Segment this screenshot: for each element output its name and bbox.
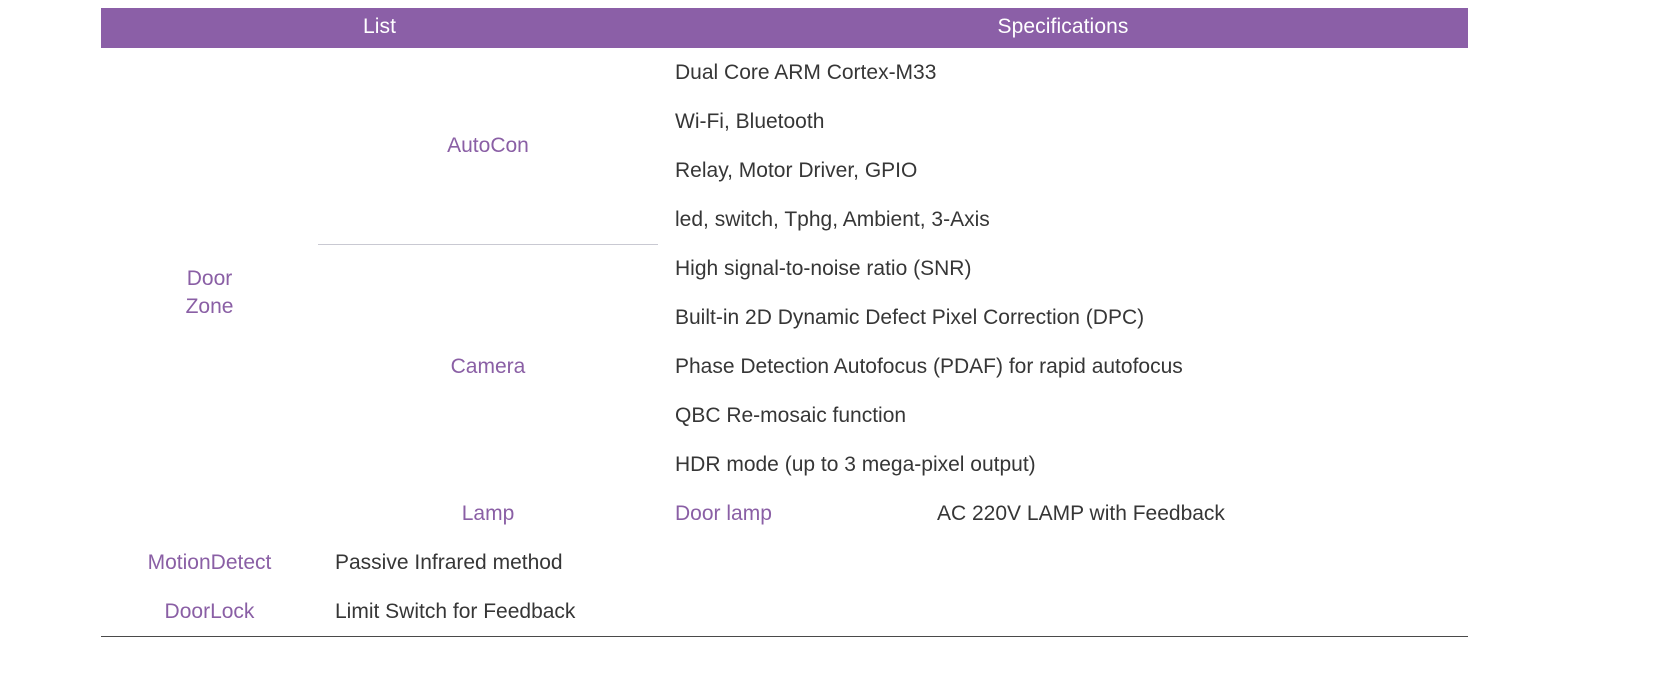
column-header-list: List bbox=[101, 8, 658, 48]
spec-cell: AC 220V LAMP with Feedback bbox=[920, 489, 1468, 538]
table-header-row: List Specifications bbox=[101, 8, 1468, 48]
spec-cell: HDR mode (up to 3 mega-pixel output) bbox=[658, 440, 1468, 489]
group-cell-camera: Camera bbox=[318, 244, 658, 489]
zone-label-line2: Zone bbox=[102, 293, 317, 321]
sub-cell-door-lamp: Door lamp bbox=[658, 489, 920, 538]
spec-cell: Built-in 2D Dynamic Defect Pixel Correct… bbox=[658, 293, 1468, 342]
column-header-specifications: Specifications bbox=[658, 8, 1468, 48]
specifications-table: List Specifications Door Zone AutoCon Du… bbox=[101, 8, 1468, 636]
table-row: Door Zone AutoCon Dual Core ARM Cortex-M… bbox=[101, 48, 1468, 97]
spec-cell: Phase Detection Autofocus (PDAF) for rap… bbox=[658, 342, 1468, 391]
group-cell-motiondetect: MotionDetect bbox=[101, 538, 318, 587]
group-cell-lamp: Lamp bbox=[318, 489, 658, 538]
table-bottom-border bbox=[101, 636, 1468, 637]
spec-cell: Wi-Fi, Bluetooth bbox=[658, 97, 1468, 146]
table-row: DoorLock Limit Switch for Feedback bbox=[101, 587, 1468, 636]
spec-cell: Passive Infrared method bbox=[318, 538, 920, 587]
zone-cell-door-zone: Door Zone bbox=[101, 48, 318, 538]
spec-cell: Limit Switch for Feedback bbox=[318, 587, 920, 636]
spec-cell: QBC Re-mosaic function bbox=[658, 391, 1468, 440]
zone-label-line1: Door bbox=[102, 265, 317, 293]
spec-cell: Relay, Motor Driver, GPIO bbox=[658, 146, 1468, 195]
spec-cell: Dual Core ARM Cortex-M33 bbox=[658, 48, 1468, 97]
group-cell-doorlock: DoorLock bbox=[101, 587, 318, 636]
spec-cell: High signal-to-noise ratio (SNR) bbox=[658, 244, 1468, 293]
group-cell-autocon: AutoCon bbox=[318, 48, 658, 244]
table-row: MotionDetect Passive Infrared method bbox=[101, 538, 1468, 587]
spec-cell: led, switch, Tphg, Ambient, 3-Axis bbox=[658, 195, 1468, 244]
